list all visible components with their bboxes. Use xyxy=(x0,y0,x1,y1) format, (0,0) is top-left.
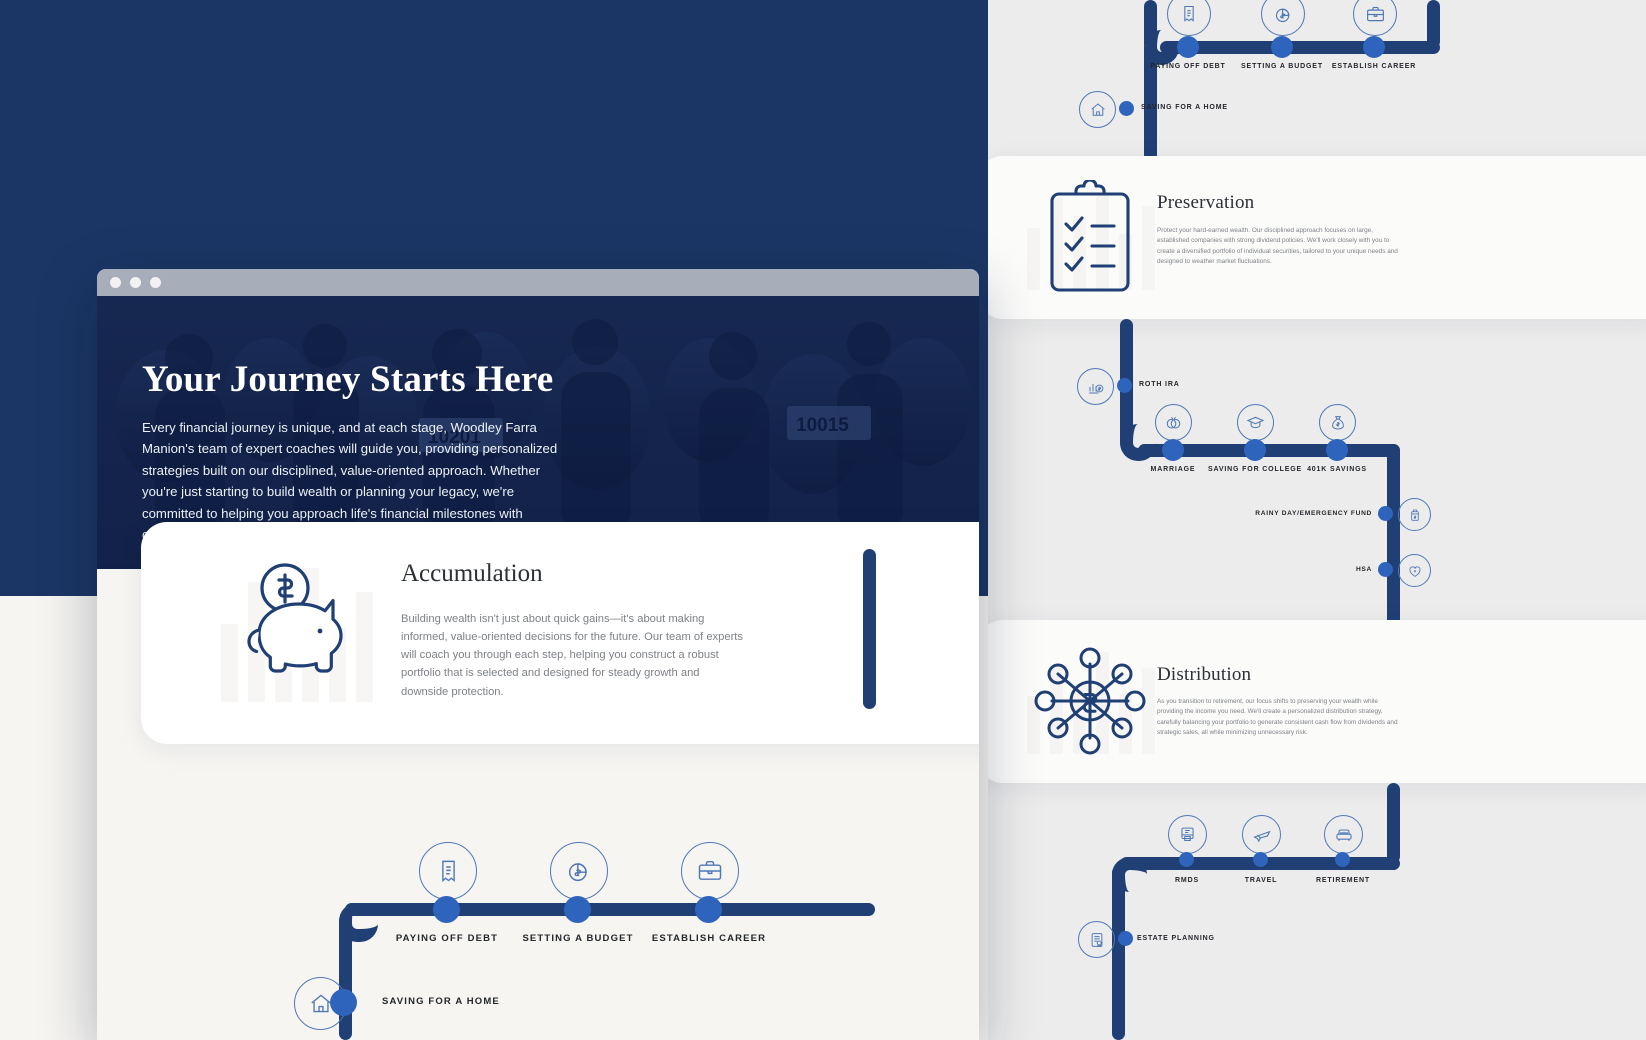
browser-window-mockup: 10201 10015 Your Journey Starts Here Eve… xyxy=(97,269,979,1040)
dot-establish-career-window[interactable] xyxy=(695,896,722,923)
accumulation-title: Accumulation xyxy=(401,560,543,588)
dot-roth-ira[interactable] xyxy=(1117,378,1132,393)
bubble-marriage[interactable] xyxy=(1155,404,1192,441)
distribution-title: Distribution xyxy=(1157,664,1251,686)
label-travel: Travel xyxy=(1245,877,1278,884)
distribution-body: As you transition to retirement, our foc… xyxy=(1157,697,1403,739)
dot-saving-for-a-home[interactable] xyxy=(1119,101,1134,116)
bubble-setting-a-budget-window[interactable] xyxy=(550,842,608,900)
label-saving-for-a-home: Saving for a Home xyxy=(1141,104,1228,111)
browser-content-area: Accumulation Building wealth isn't just … xyxy=(97,569,979,1040)
bubble-establish-career-window[interactable] xyxy=(681,842,739,900)
label-estate-planning: Estate Planning xyxy=(1137,935,1215,942)
network-nodes-dollar-icon xyxy=(1032,644,1148,763)
label-establish-career: Establish Career xyxy=(1332,63,1416,70)
bubble-saving-for-college[interactable] xyxy=(1237,404,1274,441)
dot-401k-savings[interactable] xyxy=(1326,439,1348,461)
rail-vertical-late-right xyxy=(1387,783,1400,863)
rail-vertical-left-window xyxy=(863,549,876,709)
label-hsa: HSA xyxy=(1356,566,1372,573)
accumulation-body: Building wealth isn't just about quick g… xyxy=(401,610,743,701)
stage-card-accumulation: Accumulation Building wealth isn't just … xyxy=(141,522,979,744)
label-paying-off-debt-window: Paying Off Debt xyxy=(396,933,498,944)
bubble-rmds[interactable] xyxy=(1168,815,1207,854)
dot-estate-planning[interactable] xyxy=(1118,931,1133,946)
bubble-hsa[interactable] xyxy=(1398,554,1431,587)
label-paying-off-debt: Paying Off Debt xyxy=(1150,63,1225,70)
dot-paying-off-debt-window[interactable] xyxy=(433,896,460,923)
dot-hsa[interactable] xyxy=(1378,562,1393,577)
bubble-paying-off-debt-window[interactable] xyxy=(419,842,477,900)
label-401k-savings: 401k Savings xyxy=(1307,466,1367,473)
bubble-401k-savings[interactable] xyxy=(1319,404,1356,441)
dot-rainy-day-fund[interactable] xyxy=(1378,506,1393,521)
dot-rmds[interactable] xyxy=(1179,852,1194,867)
rail-vertical-left-window-lower xyxy=(339,915,352,1040)
label-rainy-day-fund: Rainy Day/Emergency Fund xyxy=(1255,510,1372,517)
rail-vertical-top-right xyxy=(1427,0,1440,48)
preservation-title: Preservation xyxy=(1157,192,1254,214)
label-rmds: RMDs xyxy=(1175,877,1199,884)
dot-saving-for-college[interactable] xyxy=(1244,439,1266,461)
bubble-roth-ira[interactable] xyxy=(1077,368,1114,405)
close-dot-icon[interactable] xyxy=(110,277,121,288)
dot-retirement[interactable] xyxy=(1335,852,1350,867)
clipboard-checklist-icon xyxy=(1034,180,1146,300)
label-setting-a-budget: Setting a Budget xyxy=(1241,63,1323,70)
label-saving-for-a-home-window: Saving for a Home xyxy=(382,996,500,1007)
dot-paying-off-debt[interactable] xyxy=(1177,36,1199,58)
minimize-dot-icon[interactable] xyxy=(130,277,141,288)
label-roth-ira: Roth IRA xyxy=(1139,381,1180,388)
bubble-travel[interactable] xyxy=(1242,815,1281,854)
label-establish-career-window: Establish Career xyxy=(652,933,766,944)
rail-horizontal-left-window xyxy=(345,903,875,916)
rail-horizontal-top xyxy=(1160,41,1440,54)
dot-setting-a-budget[interactable] xyxy=(1271,36,1293,58)
preservation-body: Protect your hard-earned wealth. Our dis… xyxy=(1157,226,1403,268)
browser-title-bar xyxy=(97,269,979,296)
bubble-estate-planning[interactable] xyxy=(1078,921,1115,958)
stage-card-distribution: Distribution As you transition to retire… xyxy=(977,620,1646,783)
maximize-dot-icon[interactable] xyxy=(150,277,161,288)
label-setting-a-budget-window: Setting a Budget xyxy=(522,933,633,944)
bubble-retirement[interactable] xyxy=(1324,815,1363,854)
label-marriage: Marriage xyxy=(1151,466,1196,473)
rail-vertical-late-left xyxy=(1112,866,1125,1040)
dot-saving-for-a-home-window[interactable] xyxy=(330,989,357,1016)
rail-vertical-top-left xyxy=(1144,41,1157,161)
piggy-bank-icon xyxy=(223,560,375,705)
hero-title: Your Journey Starts Here xyxy=(142,358,979,401)
dot-travel[interactable] xyxy=(1253,852,1268,867)
dot-marriage[interactable] xyxy=(1162,439,1184,461)
dot-establish-career[interactable] xyxy=(1363,36,1385,58)
label-saving-for-college: Saving for College xyxy=(1208,466,1302,473)
bubble-rainy-day-fund[interactable] xyxy=(1398,498,1431,531)
screenshot-root: Paying Off Debt Setting a Budget Establi… xyxy=(0,0,1646,1040)
bubble-saving-for-a-home[interactable] xyxy=(1079,91,1116,128)
dot-setting-a-budget-window[interactable] xyxy=(564,896,591,923)
label-retirement: Retirement xyxy=(1316,877,1370,884)
rail-vertical-mid-right xyxy=(1387,444,1400,634)
stage-card-preservation: Preservation Protect your hard-earned we… xyxy=(977,156,1646,319)
